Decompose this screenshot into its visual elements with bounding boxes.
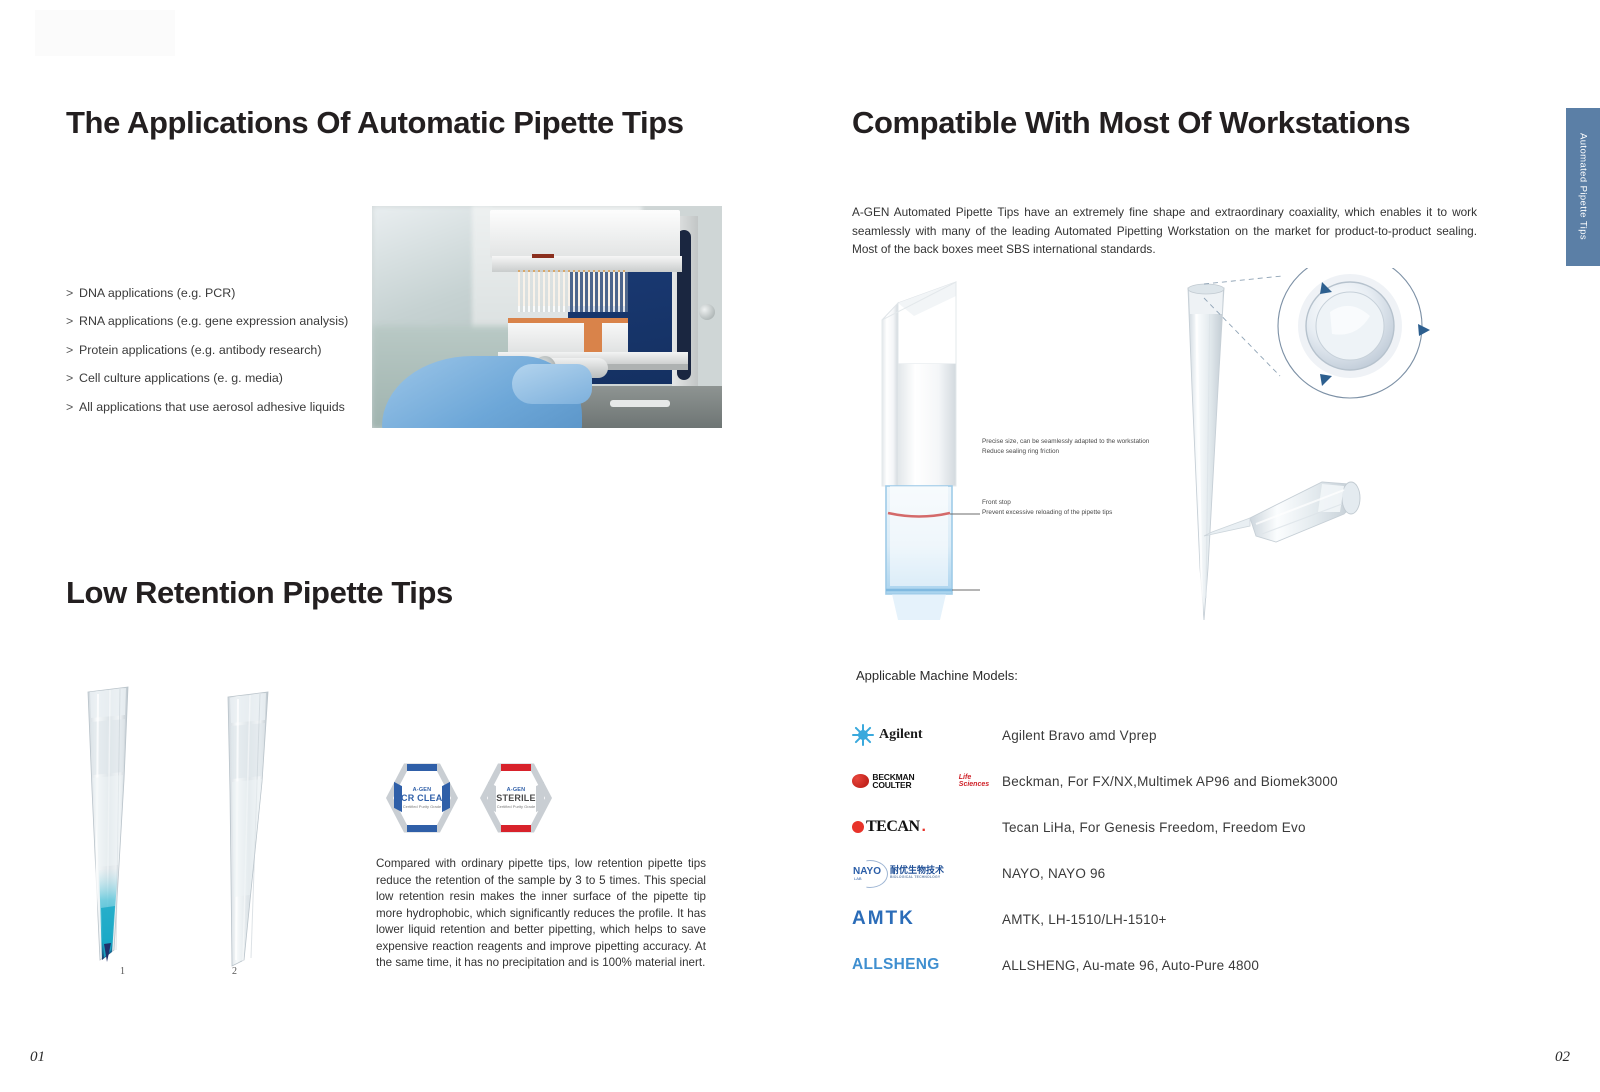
model-description: ALLSHENG, Au-mate 96, Auto-Pure 4800 bbox=[1002, 958, 1259, 973]
list-item: > Cell culture applications (e. g. media… bbox=[66, 371, 396, 386]
list-item: > Protein applications (e.g. antibody re… bbox=[66, 343, 396, 358]
tip-diagram-illustration bbox=[852, 268, 1492, 638]
compatibility-paragraph: A-GEN Automated Pipette Tips have an ext… bbox=[852, 203, 1477, 259]
agilent-wordmark: Agilent bbox=[879, 727, 923, 743]
beckman-wordmark: BECKMAN COULTER bbox=[872, 773, 952, 790]
page-right: Compatible With Most Of Workstations A-G… bbox=[800, 0, 1600, 1092]
tip-figure-label-1: 1 bbox=[120, 966, 125, 977]
model-row-nayo: NAYO LAB 耐优生物技术 BIOLOGICAL TECHNOLOGY NA… bbox=[852, 850, 1492, 896]
allsheng-wordmark: ALLSHENG bbox=[852, 956, 940, 974]
badge-name: PCR CLEAN bbox=[395, 793, 449, 803]
compatibility-title: Compatible With Most Of Workstations bbox=[852, 105, 1410, 141]
badge-sub: Certified Purity Grade bbox=[403, 804, 441, 809]
model-row-allsheng: ALLSHENG ALLSHENG, Au-mate 96, Auto-Pure… bbox=[852, 942, 1492, 988]
workstation-photo bbox=[372, 206, 722, 428]
page-left: The Applications Of Automatic Pipette Ti… bbox=[0, 0, 800, 1092]
pipette-tips-figure: 1 2 bbox=[66, 660, 366, 990]
annotation-1-line1: Precise size, can be seamlessly adapted … bbox=[982, 437, 1149, 447]
amtk-wordmark: AMTK bbox=[852, 908, 915, 930]
badge-sterile: A-GEN STERILE Certified Purity Grade bbox=[480, 762, 552, 834]
list-item: > All applications that use aerosol adhe… bbox=[66, 400, 396, 415]
model-row-agilent: Agilent Agilent Bravo amd Vprep bbox=[852, 712, 1492, 758]
page-number-left: 01 bbox=[30, 1049, 45, 1066]
tip-lying-figure bbox=[1204, 482, 1360, 542]
machine-models-list: Agilent Agilent Bravo amd Vprep BECKMAN … bbox=[852, 712, 1492, 988]
list-item-label: Protein applications (e.g. antibody rese… bbox=[79, 343, 321, 358]
annotation-2: Front stop Prevent excessive reloading o… bbox=[982, 498, 1112, 517]
page-number-right: 02 bbox=[1555, 1049, 1570, 1066]
model-description: Beckman, For FX/NX,Multimek AP96 and Bio… bbox=[1002, 774, 1338, 789]
model-description: Tecan LiHa, For Genesis Freedom, Freedom… bbox=[1002, 820, 1306, 835]
section-side-tab-label: Automated Pipette Tips bbox=[1578, 133, 1589, 240]
model-row-amtk: AMTK AMTK, LH-1510/LH-1510+ bbox=[852, 896, 1492, 942]
agilent-logo: Agilent bbox=[852, 724, 1002, 746]
list-item-label: RNA applications (e.g. gene expression a… bbox=[79, 314, 348, 329]
pipette-tip-2 bbox=[228, 692, 268, 966]
section-side-tab[interactable]: Automated Pipette Tips bbox=[1566, 108, 1600, 266]
beckman-swoosh-icon bbox=[852, 774, 869, 788]
slim-tip-figure bbox=[1188, 284, 1224, 620]
annotation-2-line1: Front stop bbox=[982, 498, 1112, 508]
pipette-tips-illustration bbox=[66, 660, 366, 990]
annotation-2-line2: Prevent excessive reloading of the pipet… bbox=[982, 508, 1112, 518]
badge-pcr-clean: A-GEN PCR CLEAN Certified Purity Grade bbox=[386, 762, 458, 834]
nayo-chinese-wordmark: 耐优生物技术 BIOLOGICAL TECHNOLOGY bbox=[890, 866, 944, 880]
tip-cutaway-figure bbox=[882, 282, 956, 620]
annotation-1-line2: Reduce sealing ring friction bbox=[982, 447, 1149, 457]
tecan-period-icon: . bbox=[922, 818, 926, 836]
tecan-logo: TECAN . bbox=[852, 818, 1002, 836]
beckman-logo: BECKMAN COULTER Life Sciences bbox=[852, 773, 1002, 790]
tip-technical-diagram: Precise size, can be seamlessly adapted … bbox=[852, 268, 1492, 638]
low-retention-title: Low Retention Pipette Tips bbox=[66, 575, 453, 611]
amtk-logo: AMTK bbox=[852, 908, 1002, 930]
tip-figure-label-2: 2 bbox=[232, 966, 237, 977]
chevron-right-icon: > bbox=[66, 286, 79, 300]
tecan-dot-icon bbox=[852, 821, 864, 833]
certification-badges: A-GEN PCR CLEAN Certified Purity Grade A… bbox=[386, 762, 552, 834]
allsheng-logo: ALLSHENG bbox=[852, 956, 1002, 974]
applications-title: The Applications Of Automatic Pipette Ti… bbox=[66, 105, 684, 141]
pipette-tip-1 bbox=[88, 687, 128, 962]
applications-list: > DNA applications (e.g. PCR) > RNA appl… bbox=[66, 286, 396, 428]
model-row-tecan: TECAN . Tecan LiHa, For Genesis Freedom,… bbox=[852, 804, 1492, 850]
beckman-subbrand: Life Sciences bbox=[959, 774, 1002, 788]
badge-sub: Certified Purity Grade bbox=[497, 804, 535, 809]
list-item-label: Cell culture applications (e. g. media) bbox=[79, 371, 283, 386]
model-description: Agilent Bravo amd Vprep bbox=[1002, 728, 1157, 743]
list-item-label: All applications that use aerosol adhesi… bbox=[79, 400, 345, 415]
list-item: > DNA applications (e.g. PCR) bbox=[66, 286, 396, 301]
nayo-lab-label: LAB bbox=[854, 876, 862, 881]
nayo-arc-icon: NAYO LAB bbox=[852, 860, 886, 886]
low-retention-paragraph: Compared with ordinary pipette tips, low… bbox=[376, 856, 706, 972]
nayo-logo: NAYO LAB 耐优生物技术 BIOLOGICAL TECHNOLOGY bbox=[852, 860, 1002, 886]
chevron-right-icon: > bbox=[66, 400, 79, 414]
orifice-magnifier-inset bbox=[1278, 268, 1430, 398]
model-row-beckman: BECKMAN COULTER Life Sciences Beckman, F… bbox=[852, 758, 1492, 804]
tecan-wordmark: TECAN bbox=[866, 818, 920, 836]
nayo-cn-text: 耐优生物技术 bbox=[890, 865, 944, 875]
model-description: NAYO, NAYO 96 bbox=[1002, 866, 1105, 881]
agilent-sparkle-icon bbox=[852, 724, 874, 746]
list-item: > RNA applications (e.g. gene expression… bbox=[66, 314, 396, 329]
chevron-right-icon: > bbox=[66, 371, 79, 385]
chevron-right-icon: > bbox=[66, 343, 79, 357]
list-item-label: DNA applications (e.g. PCR) bbox=[79, 286, 235, 301]
nayo-en-text: BIOLOGICAL TECHNOLOGY bbox=[890, 876, 944, 880]
annotation-1: Precise size, can be seamlessly adapted … bbox=[982, 437, 1149, 456]
badge-name: STERILE bbox=[496, 793, 535, 803]
machine-models-heading: Applicable Machine Models: bbox=[856, 668, 1018, 683]
brochure-spread: The Applications Of Automatic Pipette Ti… bbox=[0, 0, 1600, 1092]
chevron-right-icon: > bbox=[66, 314, 79, 328]
model-description: AMTK, LH-1510/LH-1510+ bbox=[1002, 912, 1167, 927]
